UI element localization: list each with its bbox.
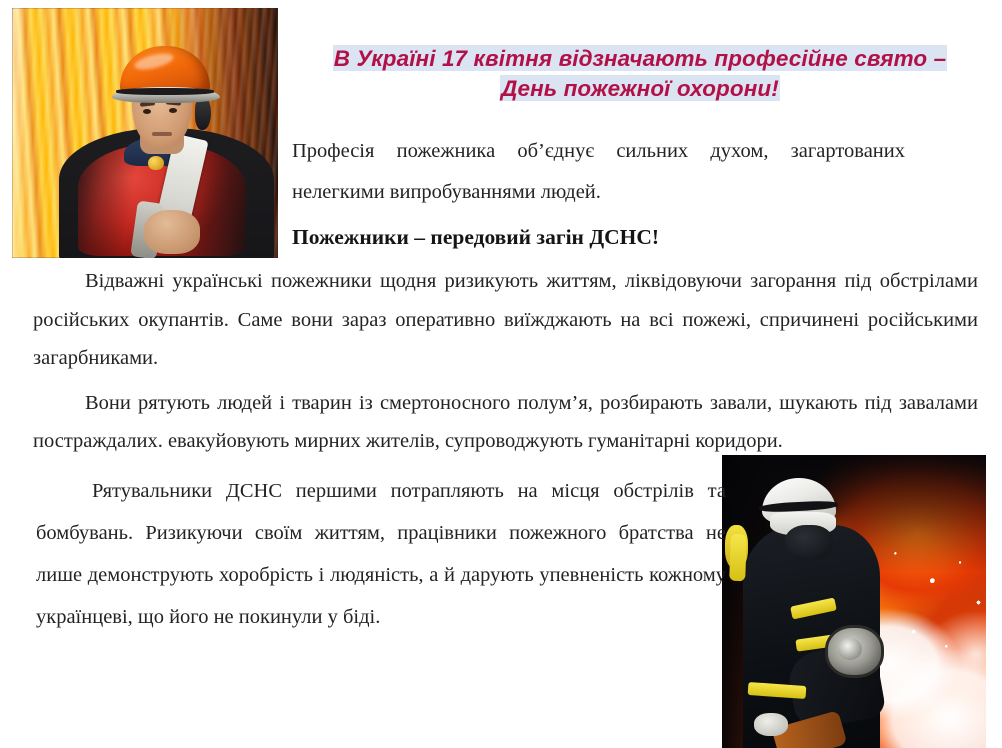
page-title: В Україні 17 квітня відзначають професій… — [290, 44, 990, 104]
body-paragraph-2: Вони рятують людей і тварин із смертонос… — [33, 384, 978, 461]
hose-nozzle-core — [838, 638, 862, 660]
mouth — [152, 132, 172, 136]
firefighter-hands — [144, 210, 200, 254]
reflective-stripe-shoulder — [729, 534, 746, 581]
tail-section: Рятувальники ДСНС першими потрапляють на… — [36, 470, 726, 638]
firefighter-glove — [754, 713, 788, 736]
right-eye — [169, 108, 177, 113]
page-title-line-1: В Україні 17 квітня відзначають професій… — [333, 45, 947, 71]
intro-section: Професія пожежника об’єднує сильних духо… — [292, 131, 905, 252]
jacket-badge-icon — [148, 156, 164, 170]
breathing-mask — [785, 525, 833, 560]
left-eye — [143, 109, 151, 114]
page-title-line-2: День пожежної охорони! — [500, 75, 780, 101]
helmet-band — [116, 88, 214, 95]
firefighter-extinguishing-fire-photo — [722, 455, 986, 748]
firefighter-portrait-flames-photo — [12, 8, 278, 258]
body-paragraph-3: Рятувальники ДСНС першими потрапляють на… — [36, 470, 726, 638]
body-paragraph-1: Відважні українські пожежники щодня ризи… — [33, 262, 978, 378]
intro-subheading: Пожежники – передовий загін ДСНС! — [292, 222, 905, 252]
body-section: Відважні українські пожежники щодня ризи… — [33, 262, 978, 461]
intro-paragraph: Професія пожежника об’єднує сильних духо… — [292, 131, 905, 213]
